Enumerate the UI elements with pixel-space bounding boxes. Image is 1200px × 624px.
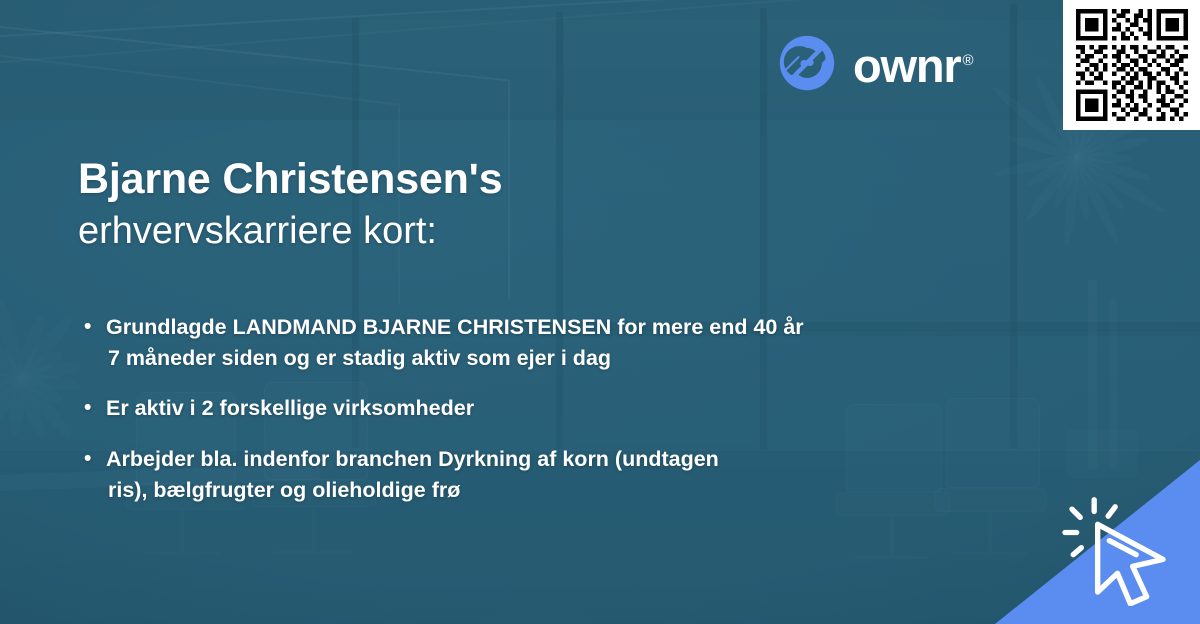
business-card-banner: ownr® [0,0,1200,624]
qr-code[interactable] [1063,0,1200,130]
ownr-circle-swoosh-logo-icon [778,34,836,92]
list-item: Er aktiv i 2 forskellige virksomheder [78,393,978,424]
title-line-1: Bjarne Christensen's [78,156,958,202]
registered-mark: ® [962,52,973,69]
qr-code-icon [1076,9,1188,121]
list-item-line-2: 7 måneder siden og er stadig aktiv som e… [106,343,978,374]
logo-text: ownr [853,39,960,92]
title-line-2: erhvervskarriere kort: [78,208,958,256]
list-item-line-1: Arbejder bla. indenfor branchen Dyrkning… [106,447,719,471]
page-title: Bjarne Christensen's erhvervskarriere ko… [78,156,958,256]
ownr-wordmark: ownr® [853,42,974,89]
list-item-line-1: Er aktiv i 2 forskellige virksomheder [106,396,474,420]
list-item: Arbejder bla. indenfor branchen Dyrkning… [78,444,978,506]
click-cursor-icon [1062,494,1180,606]
list-item-line-1: Grundlagde LANDMAND BJARNE CHRISTENSEN f… [106,315,804,339]
list-item: Grundlagde LANDMAND BJARNE CHRISTENSEN f… [78,312,978,374]
list-item-line-2: ris), bælgfrugter og olieholdige frø [106,475,978,506]
career-facts-list: Grundlagde LANDMAND BJARNE CHRISTENSEN f… [78,312,978,525]
ownr-logo[interactable]: ownr® [778,34,974,92]
